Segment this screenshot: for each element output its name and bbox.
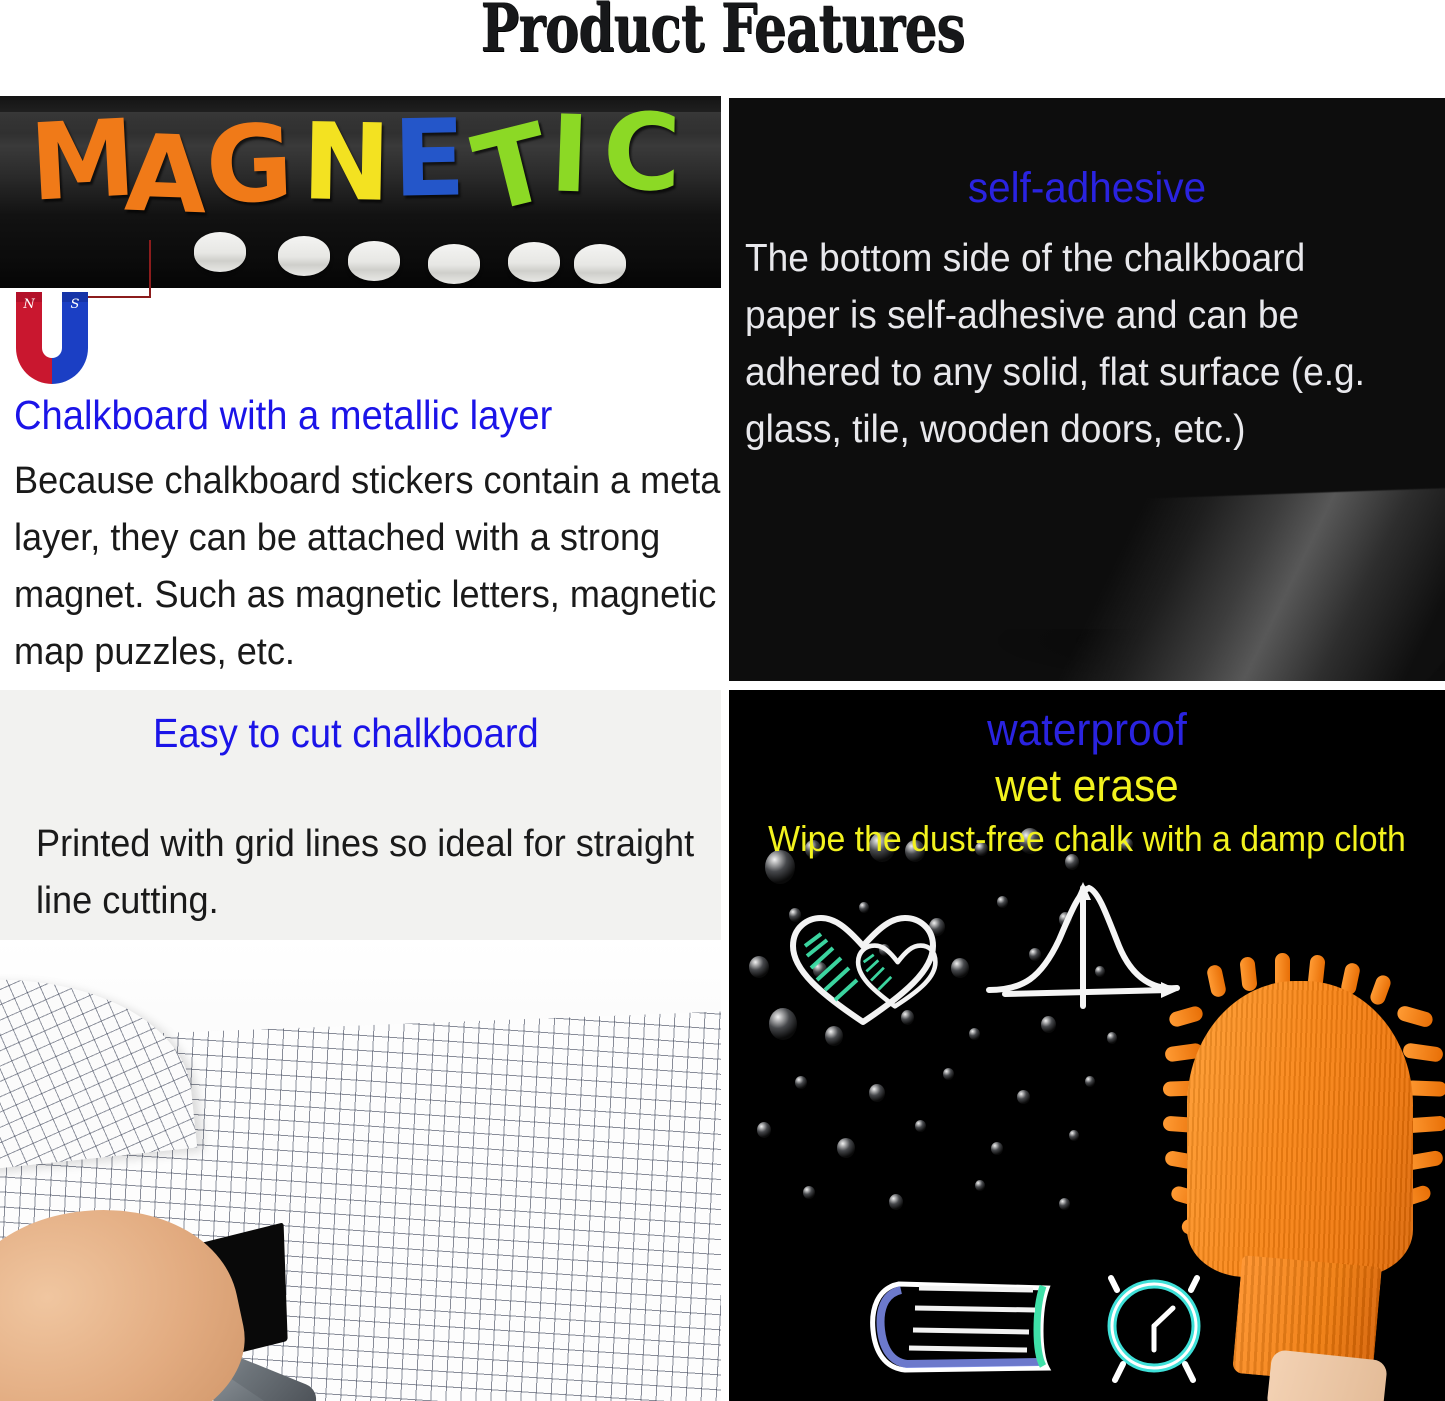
grid-paper-photo bbox=[0, 940, 721, 1401]
magnet-disc bbox=[428, 244, 480, 284]
panel-magnetic: M A G N E T I C N bbox=[0, 96, 721, 683]
grid-sheet-curled-corner bbox=[0, 958, 197, 1171]
orange-cleaning-mitt bbox=[1165, 969, 1445, 1401]
magnet-letter-g: G bbox=[204, 111, 295, 220]
chalk-bell-curve-graph bbox=[983, 876, 1183, 1016]
magnet-disc bbox=[348, 241, 400, 281]
magnet-letter-n: N bbox=[301, 109, 392, 217]
magnetic-body-text: Because chalkboard stickers contain a me… bbox=[14, 453, 721, 681]
panel-waterproof: waterproof wet erase Wipe the dust-free … bbox=[729, 690, 1445, 1401]
wet-erase-subheading: wet erase bbox=[750, 760, 1423, 812]
self-adhesive-body-text: The bottom side of the chalkboard paper … bbox=[745, 231, 1393, 459]
chalk-hearts-drawing bbox=[763, 890, 983, 1040]
magnet-disc bbox=[508, 242, 560, 282]
waterproof-heading: waterproof bbox=[750, 704, 1423, 756]
magnet-letter-t: T bbox=[465, 109, 561, 229]
magnetic-heading: Chalkboard with a metallic layer bbox=[14, 392, 685, 439]
magnet-wire-vertical-upper bbox=[149, 240, 151, 298]
magnet-disc bbox=[194, 232, 246, 272]
easy-to-cut-heading: Easy to cut chalkboard bbox=[153, 710, 539, 757]
easy-to-cut-body-text: Printed with grid lines so ideal for str… bbox=[36, 816, 701, 930]
magnet-letter-e: E bbox=[392, 105, 466, 212]
magnet-letter-m: M bbox=[27, 105, 138, 216]
magnetic-letters-photo: M A G N E T I C bbox=[0, 96, 721, 288]
magnet-disc bbox=[278, 236, 330, 276]
magnet-letter-a: A bbox=[123, 121, 209, 230]
magnet-south-label: S bbox=[71, 297, 80, 312]
chalk-book-drawing bbox=[857, 1268, 1067, 1388]
magnet-disc bbox=[574, 244, 626, 284]
page-title: Product Features bbox=[159, 0, 1286, 63]
horseshoe-magnet-icon: N S bbox=[6, 284, 98, 392]
panel-self-adhesive: self-adhesive The bottom side of the cha… bbox=[729, 96, 1445, 683]
magnet-north-label: N bbox=[22, 297, 35, 312]
mitt-microfiber-body bbox=[1187, 981, 1413, 1277]
waterproof-body-text: Wipe the dust-free chalk with a damp clo… bbox=[750, 818, 1423, 860]
magnetic-word: M A G N E T I C bbox=[30, 104, 710, 234]
magnet-letter-c: C bbox=[602, 99, 682, 206]
magnet-letter-i: I bbox=[548, 101, 591, 208]
panel-easy-to-cut: Easy to cut chalkboard Printed with grid… bbox=[0, 690, 721, 1401]
feature-panel-grid: M A G N E T I C N bbox=[0, 96, 1445, 1401]
self-adhesive-heading: self-adhesive bbox=[750, 164, 1423, 213]
self-adhesive-card: self-adhesive The bottom side of the cha… bbox=[729, 98, 1445, 681]
peeling-corner bbox=[931, 488, 1445, 681]
